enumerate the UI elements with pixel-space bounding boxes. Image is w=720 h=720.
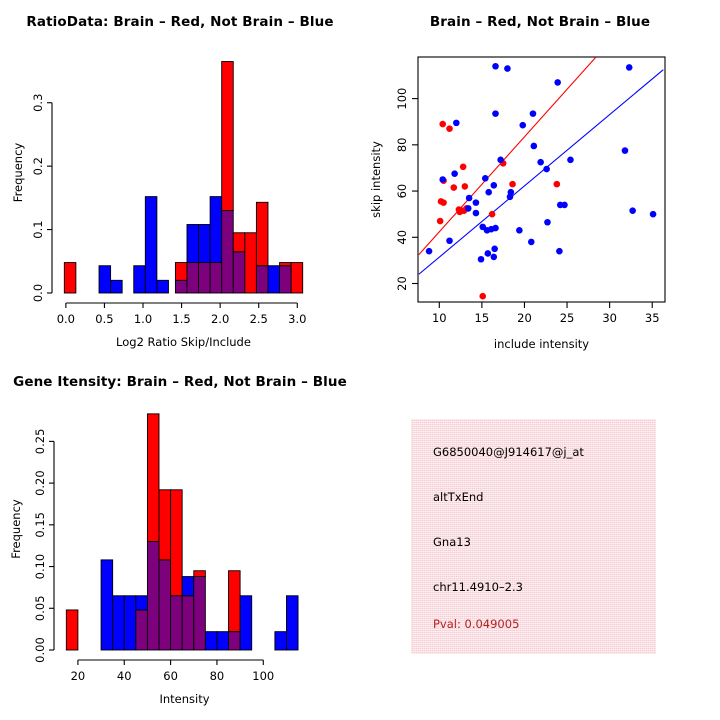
x-axis-tick-label: 2.5	[250, 312, 268, 326]
bar-brain	[194, 571, 206, 577]
bar-brain	[229, 571, 241, 632]
point-not-brain	[543, 166, 550, 173]
bar-not-brain	[101, 560, 113, 650]
panel-gene-histogram: Gene Itensity: Brain – Red, Not Brain – …	[0, 360, 360, 720]
bar-not-brain	[145, 197, 157, 293]
point-brain	[509, 181, 516, 188]
point-brain	[554, 181, 561, 188]
point-not-brain	[519, 122, 526, 129]
point-not-brain	[622, 147, 629, 154]
bar-not-brain	[199, 225, 211, 263]
point-not-brain	[492, 63, 499, 70]
point-brain	[489, 211, 496, 218]
plot-area	[419, 57, 663, 300]
point-not-brain	[629, 207, 636, 214]
point-not-brain	[478, 256, 485, 263]
bar-overlap	[233, 252, 245, 293]
point-brain	[462, 183, 469, 190]
point-brain	[450, 184, 457, 191]
y-axis-tick-label: 60	[395, 184, 409, 199]
bar-overlap	[194, 577, 206, 650]
bar-brain	[233, 233, 245, 252]
bar-not-brain	[210, 197, 222, 263]
figure-canvas: RatioData: Brain – Red, Not Brain – Blue…	[0, 0, 720, 720]
bar-not-brain	[240, 596, 252, 650]
bar-brain	[175, 263, 187, 281]
point-brain	[437, 218, 444, 225]
event-type-label: altTxEnd	[433, 490, 483, 504]
info-box: G6850040@J914617@j_at altTxEnd Gna13 chr…	[411, 419, 656, 654]
x-axis-tick-label: 15	[475, 311, 490, 325]
bar-brain	[64, 263, 76, 293]
x-axis-tick-label: 10	[432, 311, 447, 325]
bar-not-brain	[111, 280, 123, 293]
bar-not-brain	[286, 596, 298, 650]
locus-label: chr11.4910–2.3	[433, 580, 523, 594]
y-axis-tick-label: 0.25	[33, 429, 47, 455]
y-axis-tick-label: 0.2	[31, 157, 45, 175]
bar-overlap	[187, 263, 199, 293]
x-axis-tick-label: 80	[210, 669, 225, 683]
x-axis-tick-label: 40	[117, 669, 132, 683]
bar-brain	[147, 414, 159, 542]
bar-not-brain	[205, 632, 217, 650]
ratio-histogram-title: RatioData: Brain – Red, Not Brain – Blue	[0, 14, 360, 30]
point-not-brain	[650, 211, 657, 218]
point-not-brain	[626, 64, 633, 71]
bar-not-brain	[182, 577, 194, 596]
point-brain	[439, 121, 446, 128]
y-axis-tick-label: 40	[395, 230, 409, 245]
x-axis-title: include intensity	[494, 337, 589, 351]
bar-overlap	[199, 263, 211, 293]
bar-brain	[66, 610, 78, 650]
panel-info: G6850040@J914617@j_at altTxEnd Gna13 chr…	[360, 360, 720, 720]
point-not-brain	[482, 175, 489, 182]
bar-not-brain	[136, 596, 148, 610]
point-not-brain	[516, 227, 523, 234]
bar-not-brain	[134, 266, 146, 293]
bar-brain	[171, 490, 183, 596]
bar-overlap	[222, 211, 234, 293]
x-axis-tick-label: 25	[560, 311, 575, 325]
bar-overlap	[171, 596, 183, 650]
point-brain	[460, 163, 467, 170]
bar-overlap	[159, 560, 171, 650]
point-not-brain	[439, 176, 446, 183]
scatter-plot: 20406080100skip intensity101520253035inc…	[360, 0, 720, 360]
bar-brain	[256, 202, 268, 265]
gene-histogram-title: Gene Itensity: Brain – Red, Not Brain – …	[0, 374, 360, 390]
point-not-brain	[492, 225, 499, 232]
y-axis-tick-label: 0.0	[31, 284, 45, 302]
point-not-brain	[530, 110, 537, 117]
y-axis-tick-label: 0.15	[33, 512, 47, 538]
x-axis-tick-label: 100	[252, 669, 274, 683]
point-not-brain	[497, 157, 504, 164]
bar-overlap	[175, 280, 187, 293]
x-axis-tick-label: 20	[517, 311, 532, 325]
point-not-brain	[473, 210, 480, 217]
pvalue-label: Pval: 0.049005	[433, 617, 519, 631]
x-axis-tick-label: 1.0	[134, 312, 152, 326]
point-not-brain	[485, 250, 492, 257]
bar-brain	[159, 490, 171, 560]
plot-frame	[418, 57, 665, 302]
gene-histogram-plot: 0.000.050.100.150.200.25Frequency2040608…	[0, 360, 360, 720]
y-axis-title: Frequency	[11, 143, 25, 203]
x-axis-tick-label: 30	[602, 311, 617, 325]
bar-not-brain	[187, 225, 199, 263]
bar-overlap	[210, 263, 222, 293]
y-axis-tick-label: 0.10	[33, 554, 47, 580]
x-axis-title: Log2 Ratio Skip/Include	[116, 335, 251, 349]
x-axis-tick-label: 0.0	[57, 312, 75, 326]
point-not-brain	[426, 248, 433, 255]
bar-not-brain	[157, 280, 169, 293]
x-axis-tick-label: 0.5	[95, 312, 113, 326]
point-not-brain	[567, 157, 574, 164]
x-axis-tick-label: 2.0	[211, 312, 229, 326]
bar-overlap	[182, 596, 194, 650]
point-not-brain	[492, 110, 499, 117]
point-not-brain	[531, 143, 538, 150]
point-brain	[479, 293, 486, 300]
y-axis-title: Frequency	[9, 499, 23, 559]
x-axis-tick-label: 3.0	[288, 312, 306, 326]
x-axis-tick-label: 60	[163, 669, 178, 683]
point-not-brain	[491, 182, 498, 189]
y-axis-tick-label: 80	[395, 138, 409, 153]
point-not-brain	[556, 248, 563, 255]
point-not-brain	[491, 246, 498, 253]
point-not-brain	[537, 159, 544, 166]
panel-scatter: Brain – Red, Not Brain – Blue 2040608010…	[360, 0, 720, 360]
bar-overlap	[147, 542, 159, 650]
y-axis-tick-label: 0.3	[31, 94, 45, 112]
bar-brain	[222, 62, 234, 211]
point-not-brain	[561, 202, 568, 209]
point-not-brain	[491, 254, 498, 261]
x-axis-tick-label: 1.5	[172, 312, 190, 326]
point-not-brain	[507, 194, 514, 201]
bar-overlap	[280, 266, 292, 293]
panel-ratio-histogram: RatioData: Brain – Red, Not Brain – Blue…	[0, 0, 360, 360]
y-axis-title: skip intensity	[369, 141, 383, 218]
ratio-histogram-plot: 0.00.10.20.3Frequency0.00.51.01.52.02.53…	[0, 0, 360, 360]
bar-brain	[280, 263, 292, 266]
gene-symbol-label: Gna13	[433, 535, 471, 549]
point-not-brain	[466, 195, 473, 202]
point-not-brain	[453, 120, 460, 127]
y-axis-tick-label: 0.1	[31, 220, 45, 238]
bar-not-brain	[275, 632, 287, 650]
point-not-brain	[544, 219, 551, 226]
bar-not-brain	[217, 632, 229, 650]
svg-gene-content: 0.000.050.100.150.200.25Frequency2040608…	[9, 414, 298, 706]
y-axis-tick-label: 100	[395, 88, 409, 110]
bar-overlap	[136, 610, 148, 650]
y-axis-tick-label: 20	[395, 276, 409, 291]
point-not-brain	[451, 170, 458, 177]
probe-id-label: G6850040@J914617@j_at	[433, 445, 584, 459]
point-brain	[440, 199, 447, 206]
svg-scatter-content: 20406080100skip intensity101520253035inc…	[369, 57, 665, 351]
x-axis-tick-label: 20	[71, 669, 86, 683]
point-not-brain	[504, 65, 511, 72]
point-not-brain	[446, 237, 453, 244]
point-brain	[446, 125, 453, 132]
x-axis-title: Intensity	[159, 692, 209, 706]
scatter-title: Brain – Red, Not Brain – Blue	[360, 14, 720, 30]
bar-not-brain	[268, 266, 280, 293]
point-not-brain	[554, 79, 561, 86]
point-not-brain	[465, 205, 472, 212]
bar-not-brain	[113, 596, 125, 650]
y-axis-tick-label: 0.05	[33, 595, 47, 621]
bar-overlap	[256, 266, 268, 293]
bar-overlap	[229, 632, 241, 650]
bar-not-brain	[124, 596, 136, 650]
bar-brain	[291, 263, 303, 293]
svg-ratio-content: 0.00.10.20.3Frequency0.00.51.01.52.02.53…	[11, 62, 306, 349]
bar-brain	[245, 233, 257, 293]
y-axis-tick-label: 0.00	[33, 637, 47, 663]
point-not-brain	[528, 239, 535, 246]
point-not-brain	[485, 189, 492, 196]
bar-not-brain	[99, 266, 111, 293]
regression-line-brain-fit	[419, 57, 596, 255]
x-axis-tick-label: 35	[645, 311, 660, 325]
point-not-brain	[473, 199, 480, 206]
y-axis-tick-label: 0.20	[33, 470, 47, 496]
